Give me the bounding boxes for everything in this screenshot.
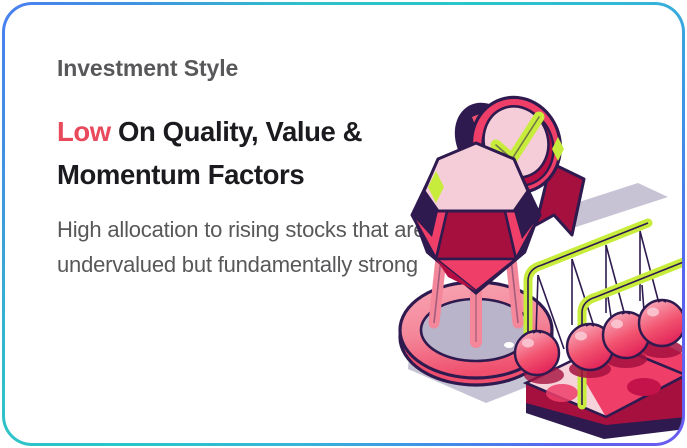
- ring-band-outer: [400, 289, 552, 385]
- cradle-ball-2: [567, 324, 613, 370]
- screenshot-root: Investment Style Low On Quality, Value &…: [0, 0, 687, 448]
- ring-prongs-outline: [434, 249, 518, 323]
- cradle-strings: [536, 231, 662, 349]
- check-icon: [496, 117, 539, 159]
- medal-side: [442, 91, 534, 191]
- cradle-base-left: [526, 343, 682, 417]
- gem-facet-center: [436, 207, 516, 259]
- medal-inner-rim: [473, 99, 564, 195]
- investment-style-card: Investment Style Low On Quality, Value &…: [2, 2, 685, 446]
- newtons-cradle-icon: [515, 223, 682, 439]
- ribbon-tail-left: [472, 175, 522, 247]
- ball-shadow: [569, 360, 611, 378]
- gem-facet-tip-shade: [436, 259, 476, 291]
- card-inner-surface: Investment Style Low On Quality, Value &…: [5, 5, 682, 443]
- headline-accent-word: Low: [57, 116, 111, 147]
- ring-band-top: [400, 282, 552, 378]
- card-headline: Low On Quality, Value & Momentum Factors: [57, 110, 402, 196]
- card-text-column: Investment Style Low On Quality, Value &…: [57, 53, 437, 282]
- cradle-base-right: [572, 329, 682, 417]
- cradle-ball-4: [639, 300, 682, 346]
- ring-prongs: [434, 249, 518, 323]
- cradle-base-edge: [526, 343, 682, 425]
- sparkle-icon: [552, 137, 564, 161]
- cradle-frame-front-outline: [582, 261, 682, 405]
- medal-stripe: [472, 101, 524, 143]
- ball-shadow: [605, 350, 647, 368]
- medal-face: [474, 98, 557, 186]
- cradle-ball-left: [515, 331, 559, 375]
- ring-highlight: [504, 342, 514, 348]
- medal-outer-rim: [459, 87, 572, 204]
- check-icon-outline: [496, 117, 539, 159]
- ribbon-tail-right: [536, 163, 584, 235]
- cradle-base-outline: [526, 343, 682, 417]
- ball-shadow: [524, 366, 564, 384]
- cradle-frame-back: [528, 223, 648, 337]
- award-ribbon-badge-icon: [442, 87, 584, 247]
- gem-facet-tip: [436, 259, 516, 291]
- card-description: High allocation to rising stocks that ar…: [57, 212, 432, 282]
- cradle-base-underside: [526, 357, 682, 439]
- cradle-ball-3: [603, 312, 649, 358]
- cradle-frame-front: [582, 261, 682, 405]
- gem-table: [424, 143, 528, 211]
- cradle-base-socket-left: [546, 384, 578, 402]
- gem-shoulder-right: [514, 191, 540, 239]
- ring-band-hole: [421, 299, 531, 361]
- cradle-base-socket-right: [627, 378, 661, 396]
- illustration-shadows: [408, 183, 668, 403]
- ball-shadow: [641, 340, 682, 358]
- card-eyebrow-label: Investment Style: [57, 53, 437, 83]
- cradle-frame-back-outline: [528, 223, 648, 337]
